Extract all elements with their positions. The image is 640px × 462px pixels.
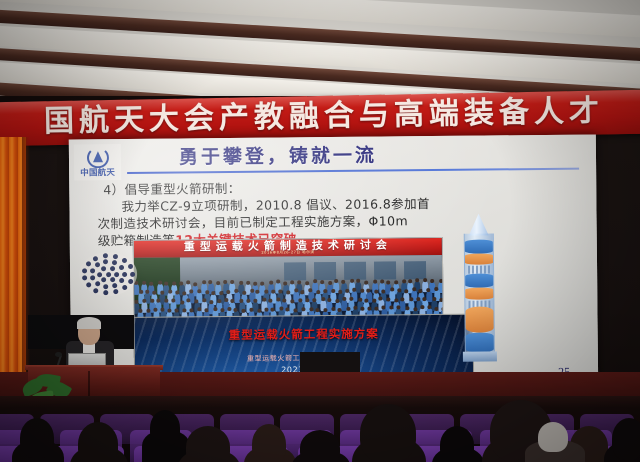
casc-logo-text: 中国航天	[80, 168, 115, 178]
auditorium-scene: 国航天大会产教融合与高端装备人才 中国航天 勇于攀登，铸就一流 4）倡导重型火箭…	[0, 0, 640, 462]
audience	[0, 396, 640, 462]
side-table	[300, 352, 360, 372]
microphone-head-icon	[55, 352, 62, 357]
rocket-tank-3	[465, 273, 493, 287]
casc-emblem-icon	[86, 147, 108, 168]
engine-cluster-diagram	[78, 251, 138, 298]
slide-title: 勇于攀登，铸就一流	[179, 141, 377, 170]
speaker-hair	[77, 317, 101, 329]
casc-logo: 中国航天	[74, 144, 121, 180]
rocket-tank-2	[465, 253, 493, 264]
earth-overlay-title: 重型运载火箭工程实施方案	[135, 325, 473, 344]
podium-seam	[88, 371, 90, 399]
rocket-tank-4	[465, 287, 493, 299]
rocket-nose-cone	[469, 214, 489, 236]
rocket-tank-1	[465, 239, 493, 253]
